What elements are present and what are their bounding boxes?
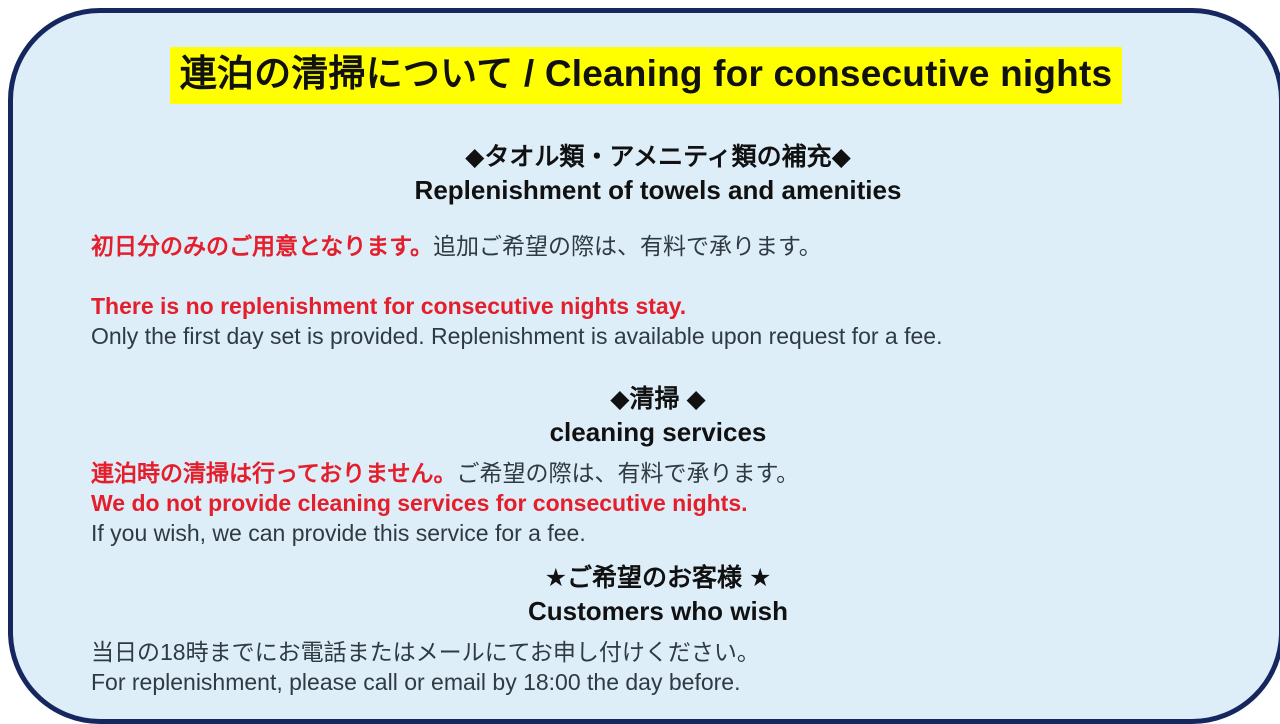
towels-line-1-emphasis: 初日分のみのご用意となります。	[91, 233, 433, 259]
notice-title-row: 連泊の清掃について / Cleaning for consecutive nig…	[13, 47, 1279, 104]
notice-card-inner: 連泊の清掃について / Cleaning for consecutive nig…	[13, 13, 1279, 719]
cleaning-line-1-rest: ご希望の際は、有料で承ります。	[456, 460, 799, 486]
notice-title: 連泊の清掃について / Cleaning for consecutive nig…	[170, 47, 1123, 104]
towels-line-2: There is no replenishment for consecutiv…	[91, 292, 1279, 322]
section-request-body: 当日の18時までにお電話またはメールにてお申し付けください。 For reple…	[13, 638, 1279, 698]
section-towels: ◆タオル類・アメニティ類の補充◆ Replenishment of towels…	[13, 141, 1279, 351]
section-cleaning: ◆清掃 ◆ cleaning services 連泊時の清掃は行っておりません。…	[13, 383, 1279, 548]
section-cleaning-heading-en: cleaning services	[37, 416, 1279, 449]
section-towels-heading-jp: ◆タオル類・アメニティ類の補充◆	[37, 141, 1279, 174]
cleaning-line-2: We do not provide cleaning services for …	[91, 489, 1279, 519]
section-cleaning-body: 連泊時の清掃は行っておりません。ご希望の際は、有料で承ります。 We do no…	[13, 459, 1279, 549]
notice-card: 連泊の清掃について / Cleaning for consecutive nig…	[8, 8, 1280, 724]
towels-line-spacer	[91, 262, 1279, 292]
section-cleaning-heading: ◆清掃 ◆ cleaning services	[13, 383, 1279, 449]
towels-line-3: Only the first day set is provided. Repl…	[91, 322, 1279, 352]
section-request-heading: ★ご希望のお客様 ★ Customers who wish	[13, 562, 1279, 628]
towels-line-1: 初日分のみのご用意となります。追加ご希望の際は、有料で承ります。	[91, 232, 1279, 262]
section-towels-heading-en: Replenishment of towels and amenities	[37, 174, 1279, 207]
section-request: ★ご希望のお客様 ★ Customers who wish 当日の18時までにお…	[13, 562, 1279, 698]
section-request-heading-en: Customers who wish	[37, 595, 1279, 628]
request-line-1: 当日の18時までにお電話またはメールにてお申し付けください。	[91, 638, 1279, 668]
towels-line-1-rest: 追加ご希望の際は、有料で承ります。	[433, 233, 822, 259]
section-cleaning-heading-jp: ◆清掃 ◆	[37, 383, 1279, 416]
section-towels-body: 初日分のみのご用意となります。追加ご希望の際は、有料で承ります。 There i…	[13, 232, 1279, 352]
cleaning-line-1-emphasis: 連泊時の清掃は行っておりません。	[91, 460, 456, 486]
section-request-heading-jp: ★ご希望のお客様 ★	[37, 562, 1279, 595]
request-line-2: For replenishment, please call or email …	[91, 668, 1279, 698]
cleaning-line-3: If you wish, we can provide this service…	[91, 519, 1279, 549]
cleaning-line-1: 連泊時の清掃は行っておりません。ご希望の際は、有料で承ります。	[91, 459, 1279, 489]
section-towels-heading: ◆タオル類・アメニティ類の補充◆ Replenishment of towels…	[13, 141, 1279, 207]
